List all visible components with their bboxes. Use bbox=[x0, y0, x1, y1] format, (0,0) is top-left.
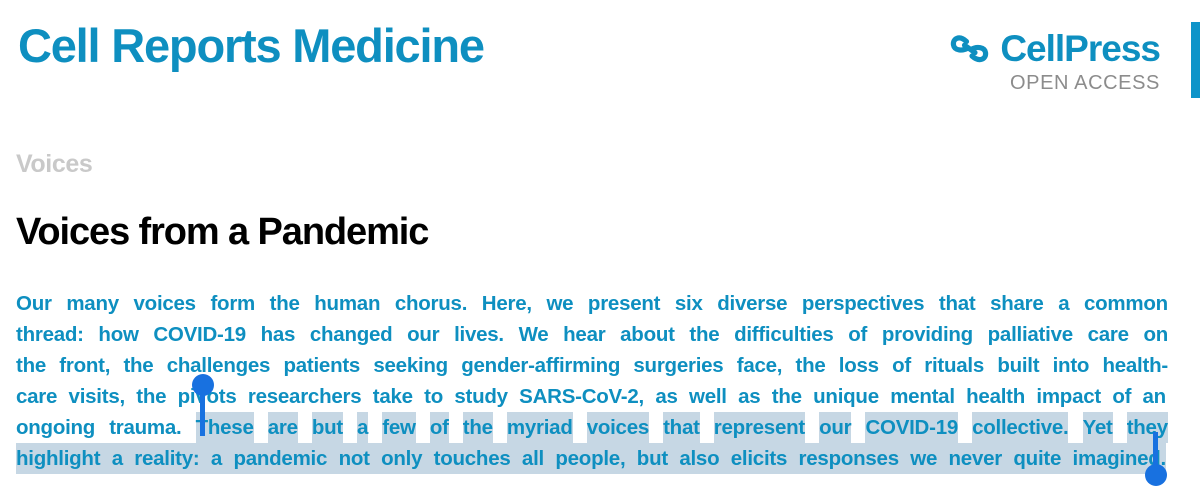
cellpress-link-logo-icon bbox=[950, 32, 990, 66]
article-page: Cell Reports Medicine CellPress OPEN ACC… bbox=[0, 0, 1200, 493]
article-kicker: Voices bbox=[16, 152, 92, 177]
open-access-label: OPEN ACCESS bbox=[950, 72, 1160, 95]
summary-line-5-text: ongoingtrauma.Thesearebutafewofthemyriad… bbox=[16, 412, 1168, 443]
summary-line-2: thread:howCOVID-19haschangedourlives.Weh… bbox=[16, 319, 1168, 350]
cellpress-brand-row: CellPress bbox=[950, 30, 1160, 67]
blue-edge-bar bbox=[1191, 22, 1200, 98]
page-title: Voices from a Pandemic bbox=[16, 213, 428, 253]
summary-line-6: highlightareality:apandemicnotonlytouche… bbox=[16, 443, 1168, 474]
summary-line-4: carevisits,thepivotsresearcherstaketostu… bbox=[16, 381, 1168, 412]
cellpress-wordmark: CellPress bbox=[1000, 30, 1160, 67]
summary-line-5: ongoingtrauma.Thesearebutafewofthemyriad… bbox=[16, 412, 1168, 443]
journal-masthead: Cell Reports Medicine CellPress OPEN ACC… bbox=[0, 0, 1200, 120]
summary-line-2-text: thread:howCOVID-19haschangedourlives.Weh… bbox=[16, 319, 1168, 350]
cellpress-brand: CellPress OPEN ACCESS bbox=[950, 30, 1160, 95]
summary-line-1-text: Ourmanyvoicesformthehumanchorus.Here,wep… bbox=[16, 288, 1168, 319]
summary-line-5-prefix: ongoing bbox=[16, 412, 95, 443]
summary-line-6-text: highlightareality:apandemicnotonlytouche… bbox=[16, 443, 1166, 474]
summary-line-1: Ourmanyvoicesformthehumanchorus.Here,wep… bbox=[16, 288, 1168, 319]
article-summary[interactable]: Ourmanyvoicesformthehumanchorus.Here,wep… bbox=[16, 288, 1168, 474]
summary-line-4-text: carevisits,thepivotsresearcherstaketostu… bbox=[16, 381, 1166, 412]
summary-line-3-text: thefront,thechallengespatientsseekinggen… bbox=[16, 350, 1168, 381]
journal-title: Cell Reports Medicine bbox=[18, 22, 484, 69]
summary-line-3: thefront,thechallengespatientsseekinggen… bbox=[16, 350, 1168, 381]
